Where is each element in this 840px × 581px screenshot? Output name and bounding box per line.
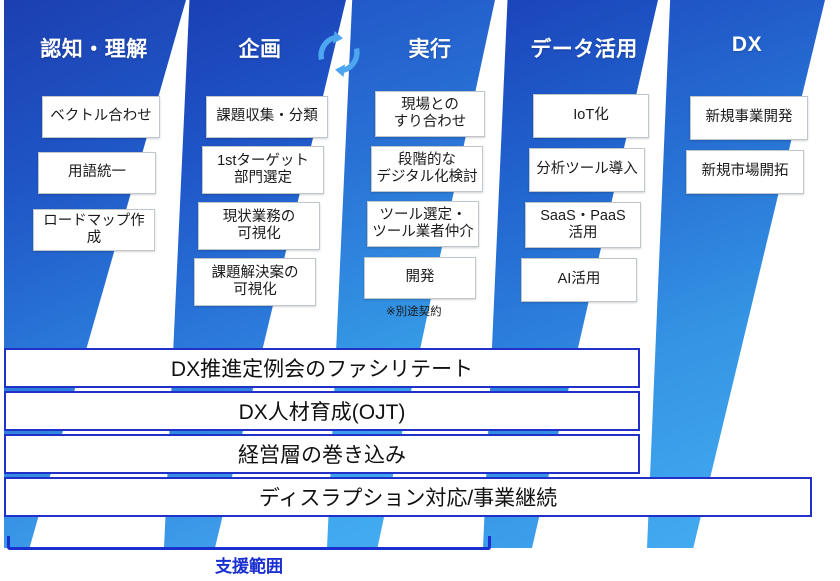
item-box[interactable]: 現場との すり合わせ	[375, 91, 485, 137]
item-box[interactable]: 段階的な デジタル化検討	[371, 146, 483, 192]
support-bar[interactable]: ディスラプション対応/事業継続	[4, 477, 812, 517]
item-box[interactable]: 新規市場開拓	[686, 150, 804, 194]
item-box[interactable]: 現状業務の 可視化	[198, 202, 320, 250]
support-scope-bracket	[7, 536, 491, 550]
column-background	[647, 0, 825, 548]
item-box[interactable]: 新規事業開発	[690, 96, 808, 140]
item-box[interactable]: 課題解決案の 可視化	[194, 258, 316, 306]
process-column-5[interactable]	[647, 0, 825, 548]
item-box[interactable]: ロードマップ作成	[33, 209, 155, 251]
item-box[interactable]: 分析ツール導入	[529, 148, 645, 192]
item-box[interactable]: 課題収集・分類	[206, 96, 328, 138]
column-title-5: DX	[672, 33, 822, 57]
column-title-3: 実行	[372, 33, 488, 63]
item-box[interactable]: 用語統一	[38, 152, 156, 194]
support-bar[interactable]: DX推進定例会のファシリテート	[4, 348, 640, 388]
item-box[interactable]: AI活用	[521, 258, 637, 302]
item-box[interactable]: ツール選定・ ツール業者仲介	[367, 201, 479, 247]
column-title-4: データ活用	[508, 33, 660, 63]
item-box[interactable]: IoT化	[533, 94, 649, 138]
item-box[interactable]: 開発	[364, 257, 476, 299]
support-bar[interactable]: 経営層の巻き込み	[4, 434, 640, 474]
column-title-1: 認知・理解	[14, 33, 174, 63]
contract-note: ※別途契約	[386, 303, 442, 319]
item-box[interactable]: ベクトル合わせ	[42, 96, 160, 138]
item-box[interactable]: SaaS・PaaS 活用	[525, 202, 641, 248]
item-box[interactable]: 1stターゲット 部門選定	[202, 146, 324, 194]
diagram-canvas: 認知・理解 企画 実行 データ活用 DX ベクトル合わせ 用語統一 ロードマップ…	[0, 0, 840, 581]
support-scope-label: 支援範囲	[0, 552, 498, 577]
support-bar[interactable]: DX人材育成(OJT)	[4, 391, 640, 431]
column-title-2: 企画	[192, 33, 328, 63]
